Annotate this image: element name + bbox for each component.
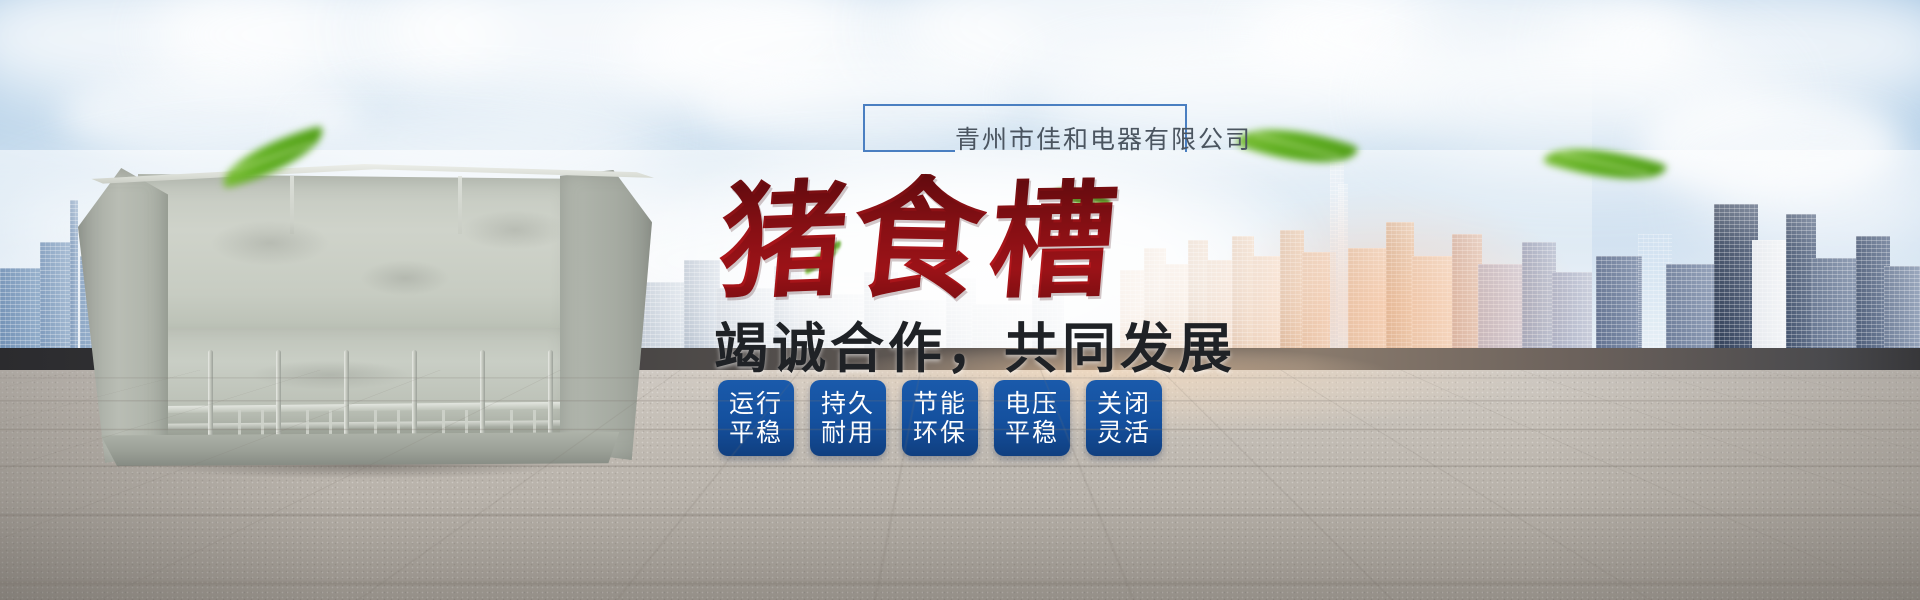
trough-body [60, 160, 660, 480]
feature-badge-line2: 环保 [913, 418, 967, 448]
feature-badge[interactable]: 电压 平稳 [994, 380, 1070, 456]
feature-badge-line2: 平稳 [729, 418, 783, 448]
headline-char: 食 [845, 173, 991, 307]
trough-surface-mark [460, 210, 570, 250]
product-image-pig-feeder-trough [60, 160, 660, 490]
feature-badge[interactable]: 节能 环保 [902, 380, 978, 456]
feature-badge-line1: 关闭 [1097, 389, 1151, 419]
page-title: 猪食槽 [720, 174, 1320, 314]
trough-inner-back-wall [138, 174, 570, 334]
trough-surface-mark [360, 260, 450, 296]
feature-badge-line1: 节能 [913, 389, 967, 419]
feature-badge[interactable]: 运行 平稳 [718, 380, 794, 456]
feature-badge-line1: 持久 [821, 389, 875, 419]
trough-right-panel [560, 170, 652, 460]
trough-surface-mark [250, 360, 410, 390]
trough-left-panel [78, 168, 168, 463]
trough-divider-bar [344, 350, 349, 446]
feature-badge-line2: 灵活 [1097, 418, 1151, 448]
banner-subtitle: 竭诚合作，共同发展 [714, 304, 1236, 383]
feature-badge-line2: 平稳 [1005, 418, 1059, 448]
feature-badge-line1: 电压 [1005, 389, 1059, 419]
feature-badge[interactable]: 持久 耐用 [810, 380, 886, 456]
trough-divider-bar [276, 350, 281, 446]
feature-badge[interactable]: 关闭 灵活 [1086, 380, 1162, 456]
feature-badge-line2: 耐用 [821, 418, 875, 448]
headline-char: 猪 [714, 176, 852, 306]
trough-divider-bar [208, 350, 213, 446]
trough-base-frame [90, 432, 630, 466]
banner-copy-block: 青州市佳和电器有限公司 猪食槽 竭诚合作，共同发展 运行 平稳 持久 耐用 节能… [700, 96, 1480, 556]
trough-divider-bar [412, 350, 417, 446]
headline-char: 槽 [984, 177, 1121, 305]
feature-badge-list: 运行 平稳 持久 耐用 节能 环保 电压 平稳 关闭 灵活 [718, 380, 1162, 456]
trough-divider-bar [548, 350, 553, 446]
trough-surface-mark [210, 220, 330, 266]
company-name: 青州市佳和电器有限公司 [955, 120, 1252, 156]
feature-badge-line1: 运行 [729, 389, 783, 419]
trough-divider-bar [480, 350, 485, 446]
product-promo-banner: 青州市佳和电器有限公司 猪食槽 竭诚合作，共同发展 运行 平稳 持久 耐用 节能… [0, 0, 1920, 600]
